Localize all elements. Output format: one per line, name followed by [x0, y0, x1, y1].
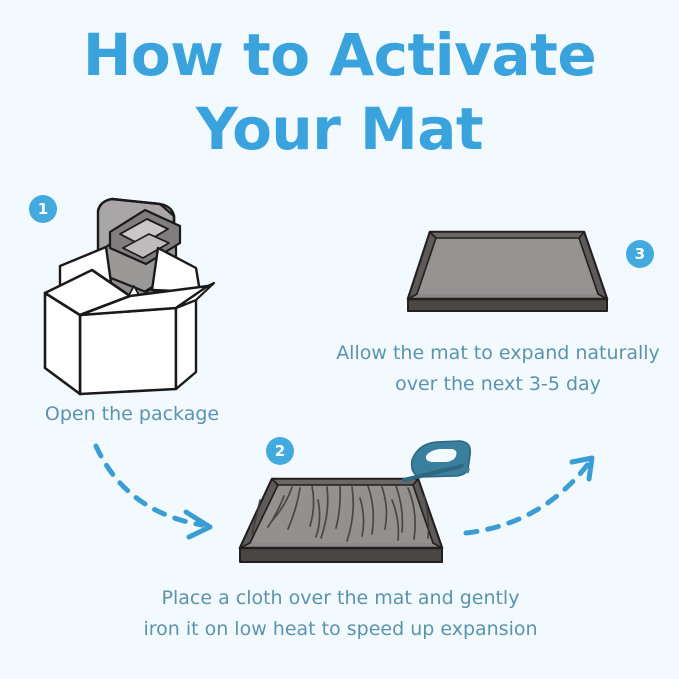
iron-icon [404, 441, 470, 480]
step-3-caption: Allow the mat to expand naturally over t… [320, 338, 676, 400]
step-3-badge: 3 [626, 240, 654, 268]
step-2-caption: Place a cloth over the mat and gently ir… [108, 583, 573, 645]
dashed-curved-arrow-up-right [466, 458, 592, 533]
infographic-canvas: How to Activate Your Mat [0, 0, 679, 679]
step-2-badge: 2 [266, 437, 294, 465]
step-1-caption-line-1: Open the package [0, 399, 264, 430]
step-3-caption-line-2: over the next 3-5 day [320, 369, 676, 400]
wrinkled-mat-illustration [240, 479, 442, 562]
dashed-curved-arrow-down-right [96, 446, 210, 537]
step-2-caption-line-2: iron it on low heat to speed up expansio… [108, 614, 573, 645]
step-3-caption-line-1: Allow the mat to expand naturally [320, 338, 676, 369]
open-box-illustration [45, 199, 214, 394]
step-2-caption-line-1: Place a cloth over the mat and gently [108, 583, 573, 614]
expanded-mat-illustration [408, 232, 607, 311]
step-1-caption: Open the package [0, 399, 264, 430]
step-1-badge: 1 [29, 195, 57, 223]
